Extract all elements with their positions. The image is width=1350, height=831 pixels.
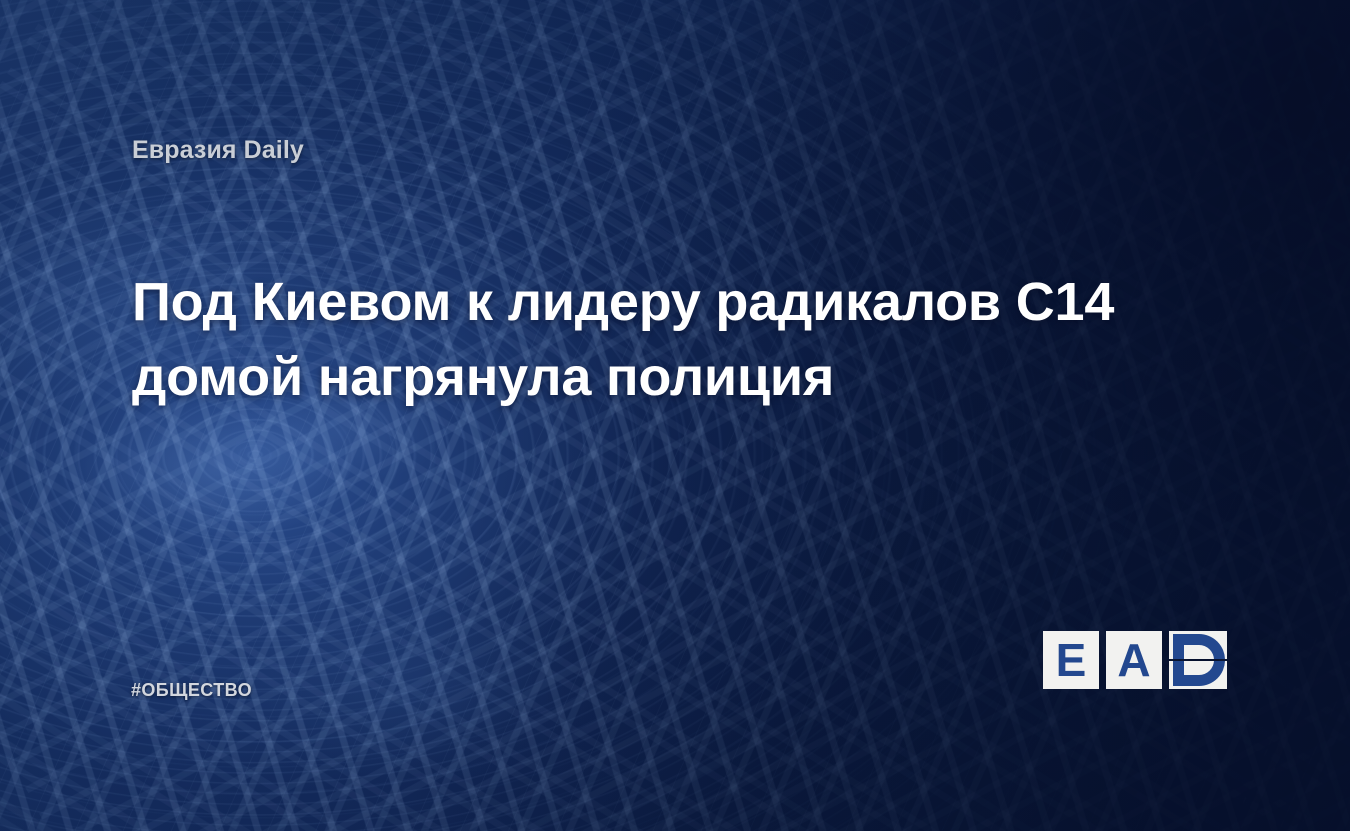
site-name: Евразия Daily (132, 136, 304, 165)
logo-tile-e: E (1043, 631, 1099, 689)
logo-d-lower-stem (1173, 661, 1184, 686)
logo-letter-e: E (1056, 637, 1087, 683)
card-content: Евразия Daily Под Киевом к лидеру радика… (0, 0, 1350, 831)
logo-d-lower-half (1169, 661, 1227, 689)
logo-tile-a: A (1106, 631, 1162, 689)
logo-tile-d (1169, 631, 1227, 689)
logo-d-upper-half (1169, 631, 1227, 659)
news-article-card: Евразия Daily Под Киевом к лидеру радика… (0, 0, 1350, 831)
category-tag: #ОБЩЕСТВО (131, 680, 252, 701)
eadaily-logo: E A (1043, 631, 1227, 689)
logo-letter-a: A (1117, 637, 1150, 683)
logo-d-upper-stem (1173, 634, 1184, 659)
article-headline: Под Киевом к лидеру радикалов С14 домой … (132, 265, 1152, 415)
